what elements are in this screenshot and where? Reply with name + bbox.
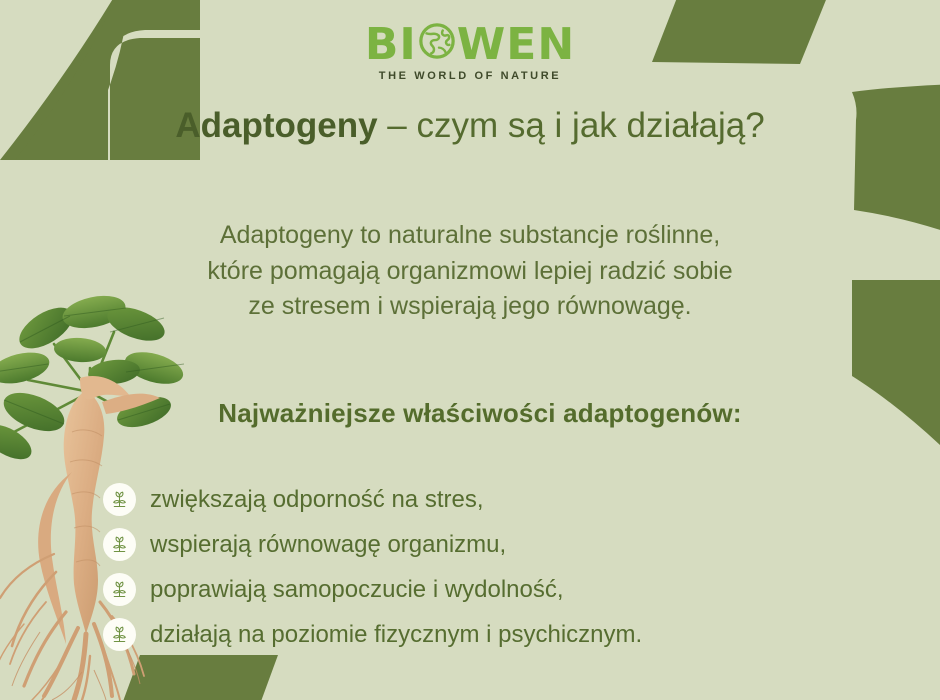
logo-mark: BI WEN THE WORLD OF NATURE bbox=[365, 22, 575, 82]
list-item-label: wspierają równowagę organizmu, bbox=[150, 533, 506, 557]
sprout-leaf-icon bbox=[103, 573, 136, 606]
lead-paragraph: Adaptogeny to naturalne substancje rośli… bbox=[90, 218, 850, 325]
brand-logo: BI WEN THE WORLD OF NATURE bbox=[0, 22, 940, 84]
list-item-label: poprawiają samopoczucie i wydolność, bbox=[150, 578, 564, 602]
logo-text-after: WEN bbox=[457, 23, 575, 67]
sprout-leaf-icon bbox=[103, 618, 136, 651]
sprout-leaf-icon bbox=[103, 483, 136, 516]
properties-list: zwiększają odporność na stres, wspierają… bbox=[103, 477, 913, 657]
page-title-emphasis: Adaptogeny bbox=[175, 106, 377, 145]
list-item-label: zwiększają odporność na stres, bbox=[150, 488, 484, 512]
decorative-shape-right-upper bbox=[848, 84, 940, 244]
lead-line-1: Adaptogeny to naturalne substancje rośli… bbox=[90, 218, 850, 254]
page-title: Adaptogeny – czym są i jak działają? bbox=[120, 104, 820, 149]
page-title-rest: – czym są i jak działają? bbox=[378, 106, 765, 145]
globe-icon bbox=[418, 22, 456, 68]
list-item: zwiększają odporność na stres, bbox=[103, 477, 913, 522]
infographic-canvas: BI WEN THE WORLD OF NATURE Adaptogeny – … bbox=[0, 0, 940, 700]
logo-tagline: THE WORLD OF NATURE bbox=[365, 71, 575, 82]
logo-text-before: BI bbox=[365, 23, 417, 67]
sprout-leaf-icon bbox=[103, 528, 136, 561]
lead-line-3: ze stresem i wspierają jego równowagę. bbox=[90, 289, 850, 325]
section-subheading: Najważniejsze właściwości adaptogenów: bbox=[110, 398, 850, 429]
list-item: działają na poziomie fizycznym i psychic… bbox=[103, 612, 913, 657]
list-item: wspierają równowagę organizmu, bbox=[103, 522, 913, 567]
logo-wordmark: BI WEN bbox=[365, 22, 575, 68]
list-item-label: działają na poziomie fizycznym i psychic… bbox=[150, 623, 642, 647]
list-item: poprawiają samopoczucie i wydolność, bbox=[103, 567, 913, 612]
lead-line-2: które pomagają organizmowi lepiej radzić… bbox=[90, 254, 850, 290]
decorative-shape-right-lower bbox=[846, 280, 940, 495]
